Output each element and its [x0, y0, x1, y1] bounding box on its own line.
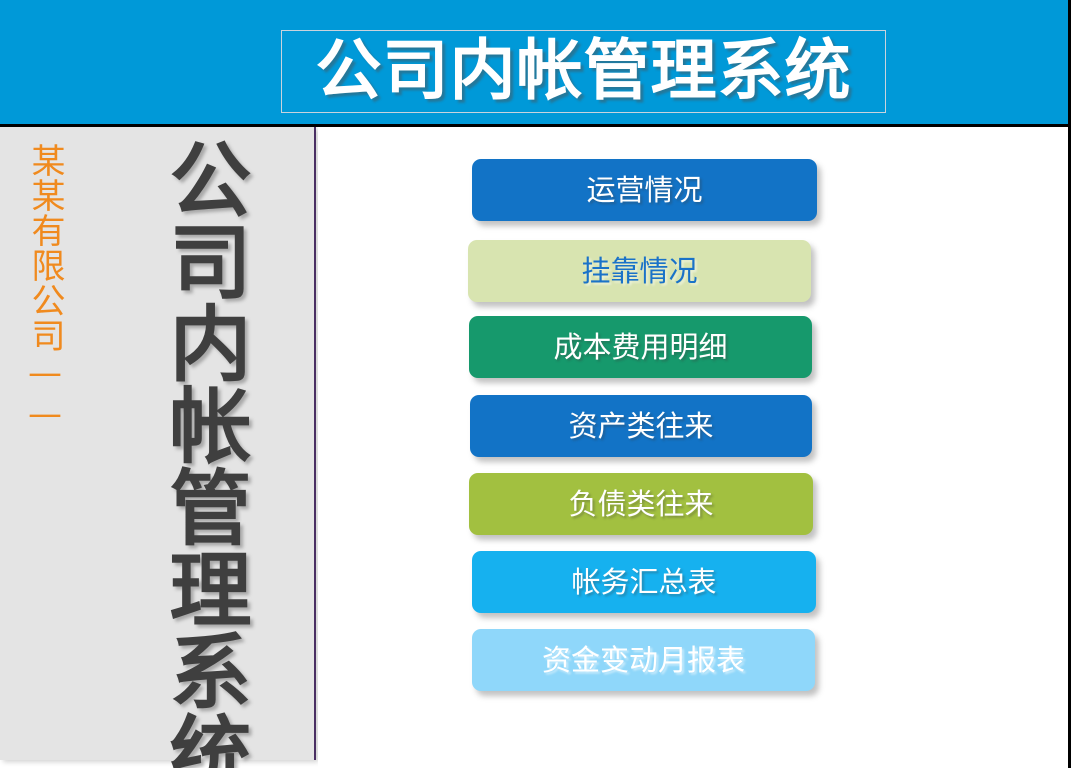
main-menu: 运营情况挂靠情况成本费用明细资产类往来负债类往来帐务汇总表资金变动月报表 [318, 127, 1068, 768]
menu-button-label: 负债类往来 [469, 473, 813, 535]
menu-button-5[interactable]: 负债类往来 [469, 473, 813, 535]
menu-button-4[interactable]: 资产类往来 [470, 395, 812, 457]
menu-button-1[interactable]: 运营情况 [472, 159, 817, 221]
title-frame: 公司内帐管理系统 [281, 30, 886, 113]
application-window: 公司内帐管理系统 某某有限公司—— 公司内帐管理系统 运营情况挂靠情况成本费用明… [0, 0, 1071, 768]
menu-button-3[interactable]: 成本费用明细 [469, 316, 812, 378]
menu-button-label: 挂靠情况 [468, 240, 811, 302]
menu-button-7[interactable]: 资金变动月报表 [472, 629, 815, 691]
header-banner: 公司内帐管理系统 [0, 0, 1071, 127]
menu-button-label: 成本费用明细 [469, 316, 812, 378]
menu-button-2[interactable]: 挂靠情况 [468, 240, 811, 302]
sidebar: 某某有限公司—— 公司内帐管理系统 [0, 127, 316, 760]
menu-button-label: 运营情况 [472, 159, 817, 221]
menu-button-label: 资产类往来 [470, 395, 812, 457]
menu-button-label: 帐务汇总表 [472, 551, 816, 613]
page-title: 公司内帐管理系统 [282, 31, 885, 114]
sidebar-system-title: 公司内帐管理系统 [148, 137, 244, 768]
company-name-label: 某某有限公司—— [18, 143, 64, 435]
content-area: 运营情况挂靠情况成本费用明细资产类往来负债类往来帐务汇总表资金变动月报表 [318, 127, 1068, 768]
menu-button-label: 资金变动月报表 [472, 629, 815, 691]
menu-button-6[interactable]: 帐务汇总表 [472, 551, 816, 613]
